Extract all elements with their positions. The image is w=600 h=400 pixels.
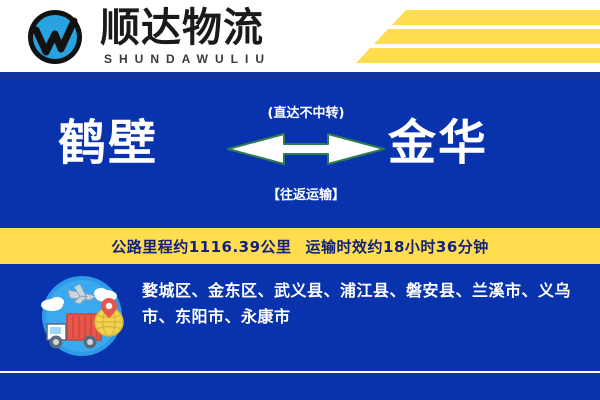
yellow-slanted-stripes-icon: [330, 0, 600, 68]
stripe-1: [392, 10, 600, 25]
brand-name-en: SHUNDAWULIU: [104, 52, 271, 66]
stripe-2: [374, 29, 600, 44]
distance-text: 公路里程约1116.39公里: [111, 238, 291, 256]
district-list: 婺城区、金东区、武义县、浦江县、磐安县、兰溪市、义乌市、东阳市、永康市: [142, 278, 588, 330]
roundtrip-note: 【往返运输】: [228, 184, 384, 203]
route-middle: (直达不中转) 【往返运输】: [228, 102, 384, 208]
double-headed-arrow-icon: [222, 128, 390, 170]
direct-note: (直达不中转): [228, 102, 384, 121]
footer-divider: [0, 371, 600, 373]
destination-city: 金华: [388, 114, 488, 172]
banner-header: 顺达物流 SHUNDAWULIU: [0, 0, 600, 72]
info-band: 公路里程约1116.39公里运输时效约18小时36分钟: [0, 228, 600, 264]
band-text-wrapper: 公路里程约1116.39公里运输时效约18小时36分钟: [111, 236, 489, 257]
circle-swoosh-logo-icon: [26, 8, 84, 66]
logistics-route-banner: 顺达物流 SHUNDAWULIU 鹤壁 (直达不中转) 【往返运输】 金华 公路…: [0, 0, 600, 400]
truck-plane-globe-icon: [30, 274, 134, 358]
coverage-section: 婺城区、金东区、武义县、浦江县、磐安县、兰溪市、义乌市、东阳市、永康市: [0, 264, 600, 372]
header-divider: [0, 72, 600, 80]
origin-city: 鹤壁: [58, 114, 158, 172]
brand-name-cn: 顺达物流: [100, 4, 264, 52]
duration-text: 运输时效约18小时36分钟: [306, 238, 489, 256]
stripe-3: [356, 48, 600, 63]
route-section: 鹤壁 (直达不中转) 【往返运输】 金华: [0, 80, 600, 228]
